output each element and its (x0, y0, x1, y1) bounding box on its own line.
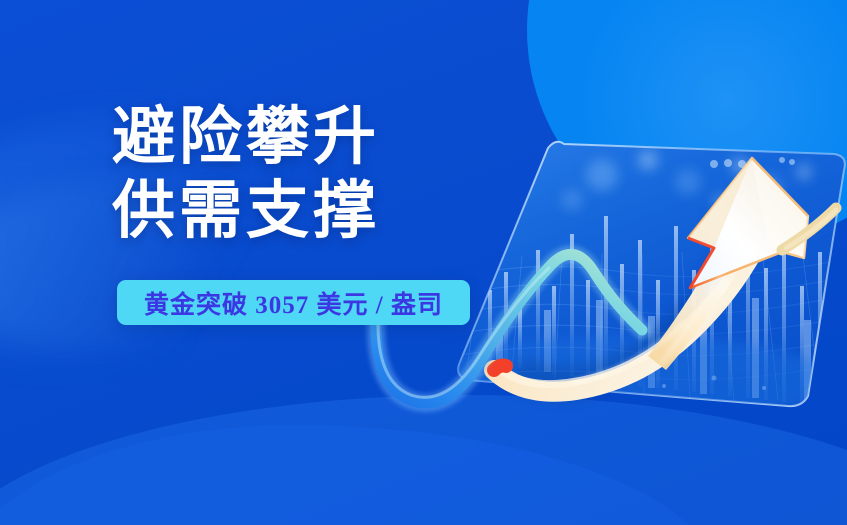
subtitle-banner: 黄金突破 3057 美元 / 盎司 (117, 280, 470, 325)
poster-canvas: 避险攀升 供需支撑 黄金突破 3057 美元 / 盎司 (0, 0, 847, 525)
subtitle-text: 黄金突破 3057 美元 / 盎司 (144, 285, 443, 321)
headline-line-2: 供需支撑 (112, 174, 380, 248)
hero-graphic (452, 130, 847, 420)
headline-line-1: 避险攀升 (112, 102, 380, 172)
page-title: 避险攀升 供需支撑 (112, 100, 380, 248)
